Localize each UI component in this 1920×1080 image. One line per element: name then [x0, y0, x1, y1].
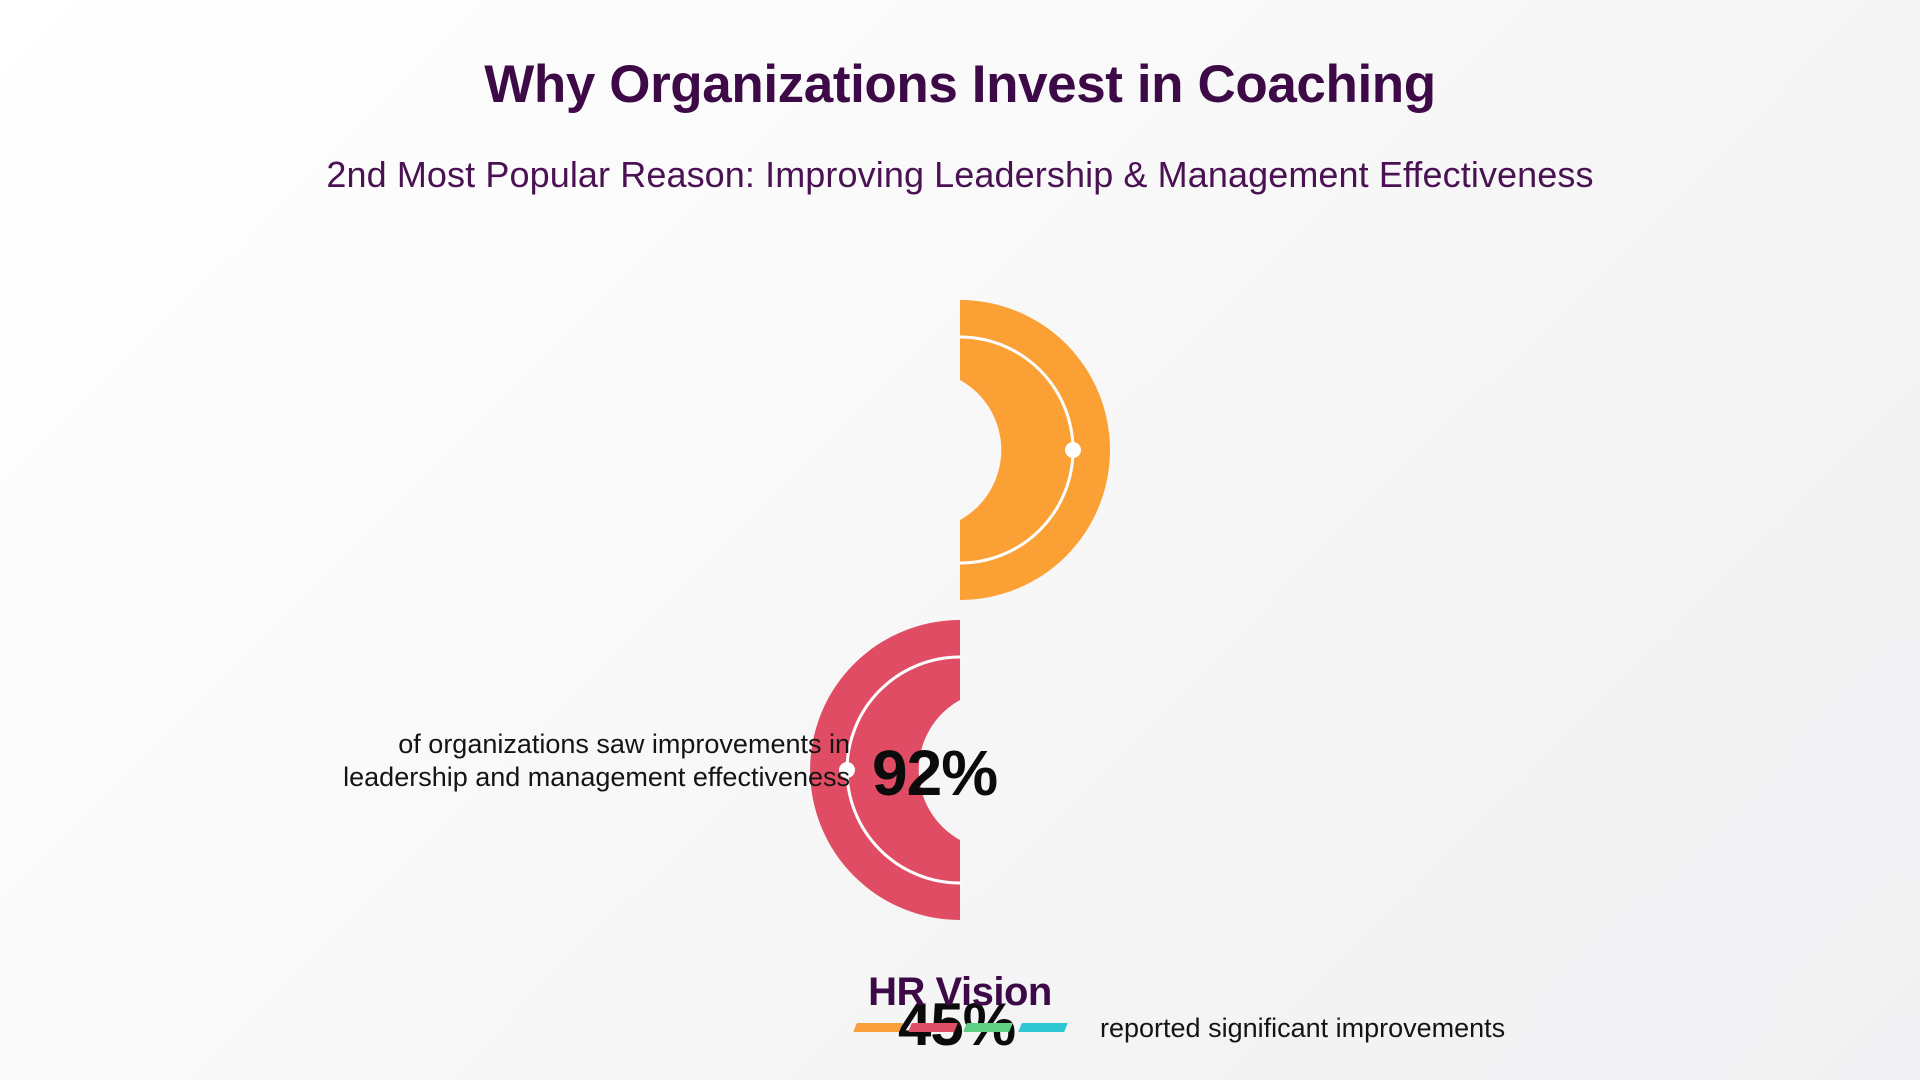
page-title: Why Organizations Invest in Coaching [0, 56, 1920, 114]
s-curve-gauge-chart: 92% 45% of organizations saw improvement… [0, 300, 1920, 920]
dash-orange-icon [853, 1023, 903, 1032]
logo-dash-row [0, 1023, 1920, 1032]
s-curve-donut-svg [770, 300, 1210, 920]
header: Why Organizations Invest in Coaching 2nd… [0, 0, 1920, 196]
brand-logo: HR Vision [0, 972, 1920, 1032]
logo-wordmark: HR Vision [0, 972, 1920, 1012]
metric-value-92: 92% [872, 741, 997, 805]
dash-pink-icon [908, 1023, 958, 1032]
metric-caption-92: of organizations saw improvements in lea… [160, 728, 850, 794]
dash-cyan-icon [1018, 1023, 1068, 1032]
dash-green-icon [963, 1023, 1013, 1032]
page-subtitle: 2nd Most Popular Reason: Improving Leade… [0, 154, 1920, 195]
infographic-slide: Why Organizations Invest in Coaching 2nd… [0, 0, 1920, 1080]
arc-segment-92 [960, 300, 1110, 600]
arc-marker-dot-92 [1065, 442, 1081, 458]
